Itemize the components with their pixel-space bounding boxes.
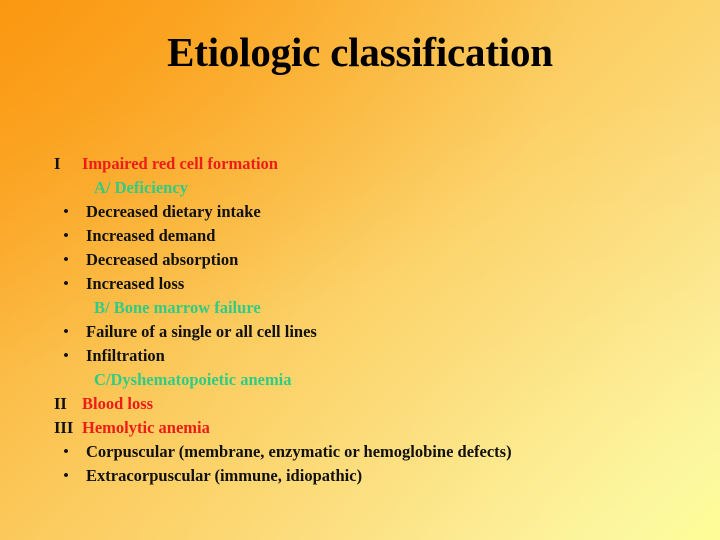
bullet-item-label: Decreased absorption [86,250,238,269]
outline-subheading: C/Dyshematopoietic anemia [54,368,694,392]
outline-bullet-item: •Decreased dietary intake [54,200,694,224]
roman-heading-label: Impaired red cell formation [82,154,278,173]
bullet-dot-icon: • [61,224,71,248]
roman-heading-label: Blood loss [82,394,153,413]
outline-roman-heading: IIIHemolytic anemia [54,416,694,440]
bullet-item-label: Failure of a single or all cell lines [86,322,317,341]
outline-roman-heading: IImpaired red cell formation [54,152,694,176]
bullet-dot-icon: • [61,344,71,368]
outline-roman-heading: IIBlood loss [54,392,694,416]
bullet-item-label: Corpuscular (membrane, enzymatic or hemo… [86,442,512,461]
outline-bullet-item: •Infiltration [54,344,694,368]
bullet-dot-icon: • [61,248,71,272]
bullet-item-label: Increased loss [86,274,184,293]
bullet-item-label: Increased demand [86,226,215,245]
roman-heading-label: Hemolytic anemia [82,418,210,437]
bullet-dot-icon: • [61,272,71,296]
slide-body-outline: IImpaired red cell formationA/ Deficienc… [54,152,694,488]
outline-bullet-item: •Increased demand [54,224,694,248]
presentation-slide: Etiologic classification IImpaired red c… [0,0,720,540]
roman-numeral: II [54,392,82,416]
roman-numeral: III [54,416,82,440]
bullet-item-label: Infiltration [86,346,165,365]
bullet-dot-icon: • [61,200,71,224]
bullet-dot-icon: • [61,320,71,344]
bullet-dot-icon: • [61,464,71,488]
outline-bullet-item: •Decreased absorption [54,248,694,272]
outline-subheading: B/ Bone marrow failure [54,296,694,320]
outline-bullet-item: •Increased loss [54,272,694,296]
bullet-dot-icon: • [61,440,71,464]
slide-title: Etiologic classification [0,28,720,76]
outline-bullet-item: •Extracorpuscular (immune, idiopathic) [54,464,694,488]
outline-bullet-item: •Corpuscular (membrane, enzymatic or hem… [54,440,694,464]
outline-subheading: A/ Deficiency [54,176,694,200]
roman-numeral: I [54,152,82,176]
bullet-item-label: Decreased dietary intake [86,202,261,221]
outline-bullet-item: •Failure of a single or all cell lines [54,320,694,344]
bullet-item-label: Extracorpuscular (immune, idiopathic) [86,466,362,485]
